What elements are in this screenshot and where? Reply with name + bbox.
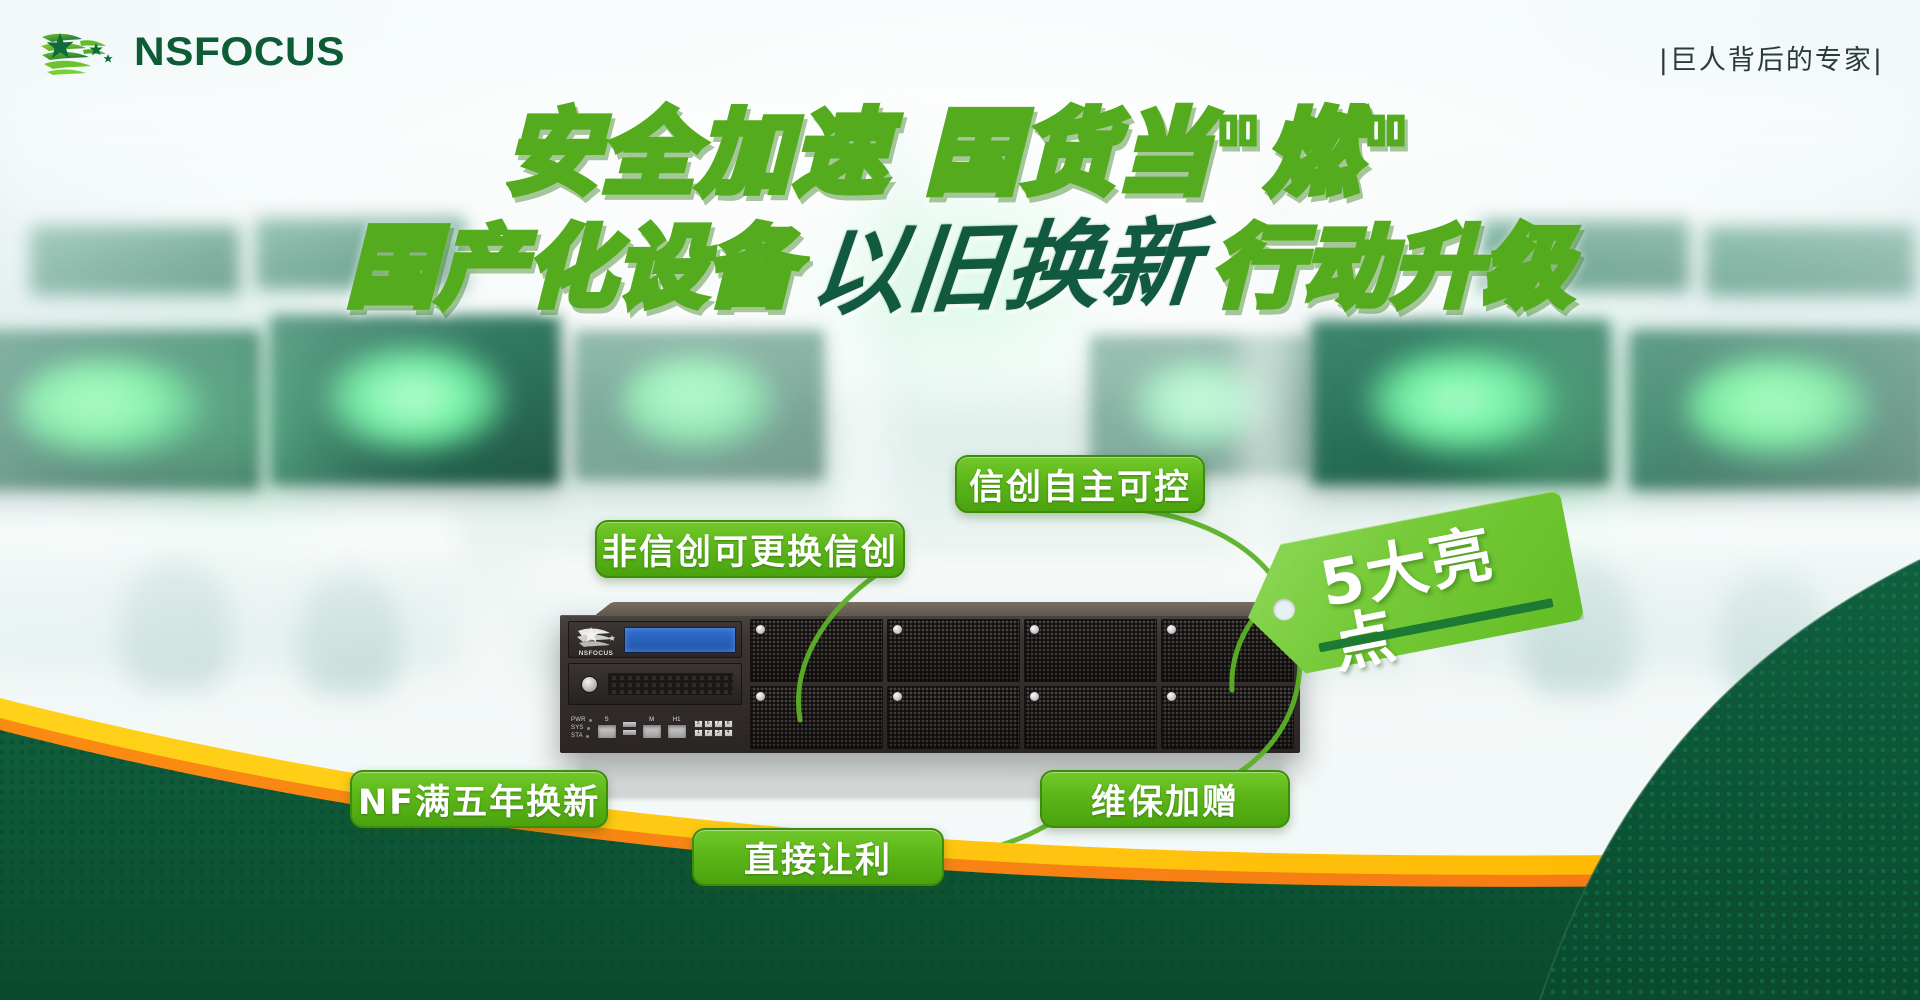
feature-badge-nf-five-year-renew[interactable]: NF满五年换新 — [350, 770, 608, 828]
headline-line-2-suffix: 行动升级 — [1213, 224, 1573, 312]
headline-block: 安全加速 国货当"燃" 国产化设备 以旧换新 行动升级 — [0, 108, 1920, 316]
feature-badge-xinchuang-autonomous[interactable]: 信创自主可控 — [955, 455, 1205, 513]
headline-line-2: 国产化设备 以旧换新 行动升级 — [0, 220, 1920, 316]
headline-line-2-prefix: 国产化设备 — [347, 224, 797, 312]
feature-badge-direct-discount[interactable]: 直接让利 — [692, 828, 944, 886]
headline-line-1-text: 安全加速 国货当"燃" — [506, 100, 1414, 207]
bottom-ribbon-decoration — [0, 580, 1920, 1000]
feature-badge-label: 信创自主可控 — [969, 459, 1191, 510]
feature-badge-label: NF满五年换新 — [358, 774, 600, 825]
feature-badge-non-xinchuang-replace[interactable]: 非信创可更换信创 — [595, 520, 905, 578]
headline-line-1: 安全加速 国货当"燃" — [0, 108, 1920, 200]
headline-brush-calligraphy: 以旧换新 — [806, 215, 1204, 321]
feature-badge-label: 直接让利 — [744, 832, 892, 883]
feature-badge-label: 维保加赠 — [1091, 774, 1239, 825]
brand-name: NSFOCUS — [134, 30, 345, 75]
banner-header: NSFOCUS |巨人背后的专家| — [0, 0, 1920, 110]
feature-badge-maintenance-bonus[interactable]: 维保加赠 — [1040, 770, 1290, 828]
brand-slogan: |巨人背后的专家| — [1659, 38, 1884, 77]
brand-logo[interactable]: NSFOCUS — [36, 27, 333, 77]
feature-badge-label: 非信创可更换信创 — [602, 524, 898, 575]
nsfocus-flag-star-logo-icon — [36, 27, 124, 77]
promo-banner: NSFOCUS |巨人背后的专家| 安全加速 国货当"燃" 国产化设备 以旧换新… — [0, 0, 1920, 1000]
